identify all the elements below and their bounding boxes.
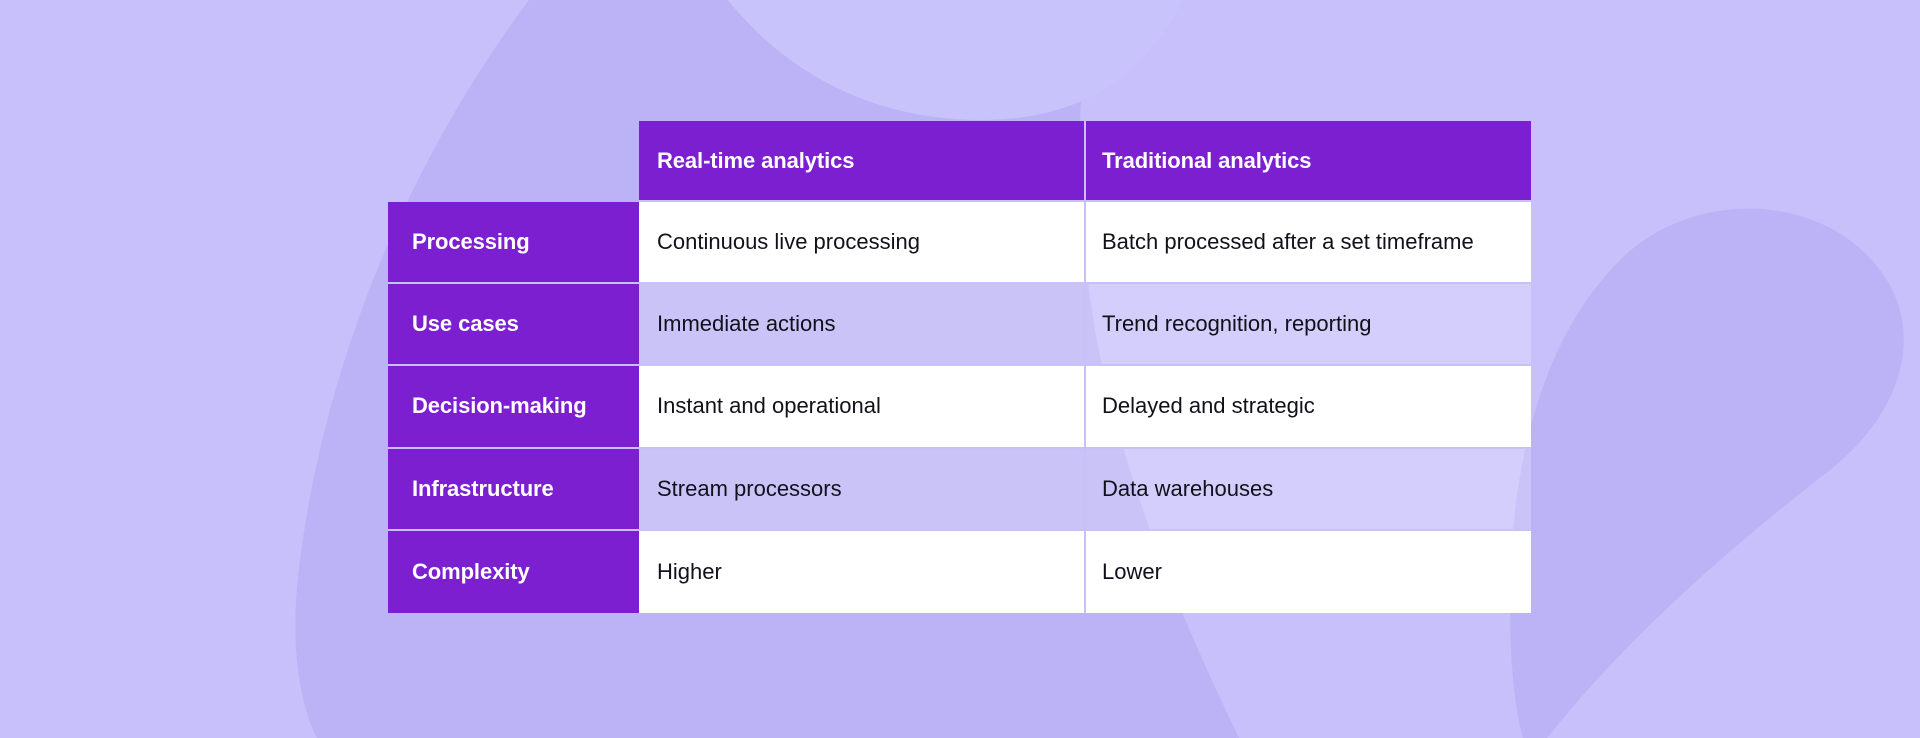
cell-decision-making-traditional: Delayed and strategic bbox=[1084, 366, 1531, 448]
row-label-decision-making: Decision-making bbox=[388, 366, 639, 448]
table-row: Complexity Higher Lower bbox=[388, 531, 1531, 613]
cell-processing-realtime: Continuous live processing bbox=[639, 202, 1084, 284]
blob-center-arc bbox=[700, 0, 1200, 120]
row-label-infrastructure: Infrastructure bbox=[388, 449, 639, 531]
table-corner-cell bbox=[388, 121, 639, 202]
column-header-traditional: Traditional analytics bbox=[1084, 121, 1531, 202]
cell-decision-making-realtime: Instant and operational bbox=[639, 366, 1084, 448]
table-row: Processing Continuous live processing Ba… bbox=[388, 202, 1531, 284]
table-row: Decision-making Instant and operational … bbox=[388, 366, 1531, 448]
row-label-complexity: Complexity bbox=[388, 531, 639, 613]
cell-processing-traditional: Batch processed after a set timeframe bbox=[1084, 202, 1531, 284]
blob-right-teardrop bbox=[1510, 209, 1904, 738]
column-header-realtime: Real-time analytics bbox=[639, 121, 1084, 202]
cell-infrastructure-realtime: Stream processors bbox=[639, 449, 1084, 531]
cell-complexity-traditional: Lower bbox=[1084, 531, 1531, 613]
cell-use-cases-realtime: Immediate actions bbox=[639, 284, 1084, 366]
cell-infrastructure-traditional: Data warehouses bbox=[1084, 449, 1531, 531]
cell-complexity-realtime: Higher bbox=[639, 531, 1084, 613]
row-label-processing: Processing bbox=[388, 202, 639, 284]
table-header-row: Real-time analytics Traditional analytic… bbox=[388, 121, 1531, 202]
cell-use-cases-traditional: Trend recognition, reporting bbox=[1084, 284, 1531, 366]
table-row: Infrastructure Stream processors Data wa… bbox=[388, 449, 1531, 531]
comparison-table: Real-time analytics Traditional analytic… bbox=[388, 121, 1531, 615]
row-label-use-cases: Use cases bbox=[388, 284, 639, 366]
table-row: Use cases Immediate actions Trend recogn… bbox=[388, 284, 1531, 366]
